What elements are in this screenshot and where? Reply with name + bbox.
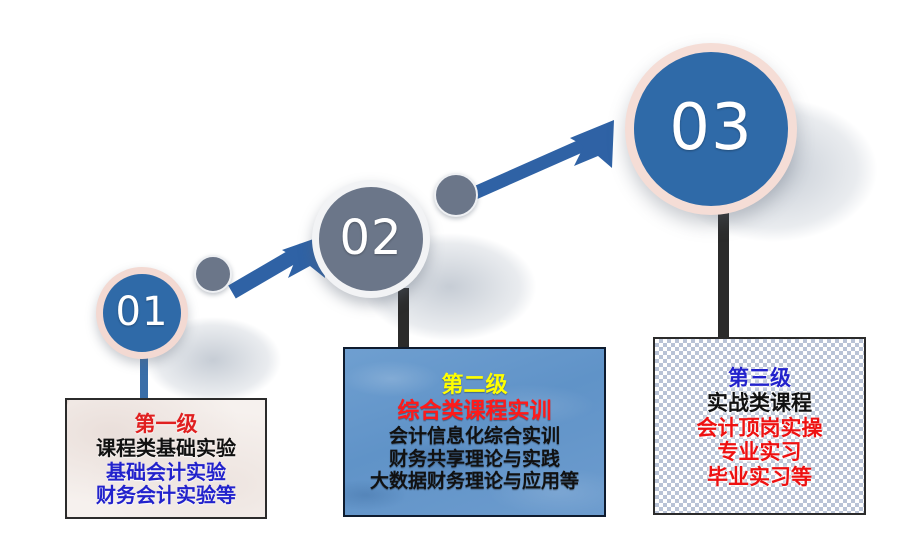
step-box-01-line-0: 第一级 [135,412,198,437]
connector-stem-03 [718,208,729,340]
dot-after-02 [434,173,478,217]
step-box-03[interactable]: 第三级 实战类课程 会计顶岗实操 专业实习 毕业实习等 [653,337,866,515]
diagram-canvas: 01 02 03 第一级 课程类基础实验 基础会计实验 财务会计实验等 第二级 … [0,0,900,537]
step-marker-03-label: 03 [669,91,752,165]
step-box-03-line-0: 第三级 [728,366,791,391]
step-box-03-line-1: 实战类课程 [707,391,812,416]
step-box-03-line-3: 专业实习 [718,440,802,465]
step-box-01[interactable]: 第一级 课程类基础实验 基础会计实验 财务会计实验等 [65,398,267,519]
step-box-02-line-0: 第二级 [441,373,507,399]
step-box-02-line-2: 会计信息化综合实训 [389,425,560,447]
step-box-01-line-3: 财务会计实验等 [96,484,236,508]
step-box-01-line-2: 基础会计实验 [106,461,226,485]
step-box-03-line-4: 毕业实习等 [707,465,812,490]
step-marker-03[interactable]: 03 [625,43,797,215]
arrow-02-to-03 [462,112,632,212]
step-marker-01[interactable]: 01 [96,267,188,359]
step-box-02-line-1: 综合类课程实训 [397,399,551,425]
step-marker-01-label: 01 [116,289,169,335]
step-marker-02[interactable]: 02 [312,180,430,298]
step-box-01-line-1: 课程类基础实验 [96,437,236,461]
step-box-02[interactable]: 第二级 综合类课程实训 会计信息化综合实训 财务共享理论与实践 大数据财务理论与… [343,347,606,517]
step-box-02-line-3: 财务共享理论与实践 [389,448,560,470]
step-box-03-line-2: 会计顶岗实操 [697,416,823,441]
dot-after-01 [194,255,232,293]
step-box-02-line-4: 大数据财务理论与应用等 [370,470,579,492]
connector-stem-02 [398,288,409,350]
step-marker-02-label: 02 [339,210,402,266]
